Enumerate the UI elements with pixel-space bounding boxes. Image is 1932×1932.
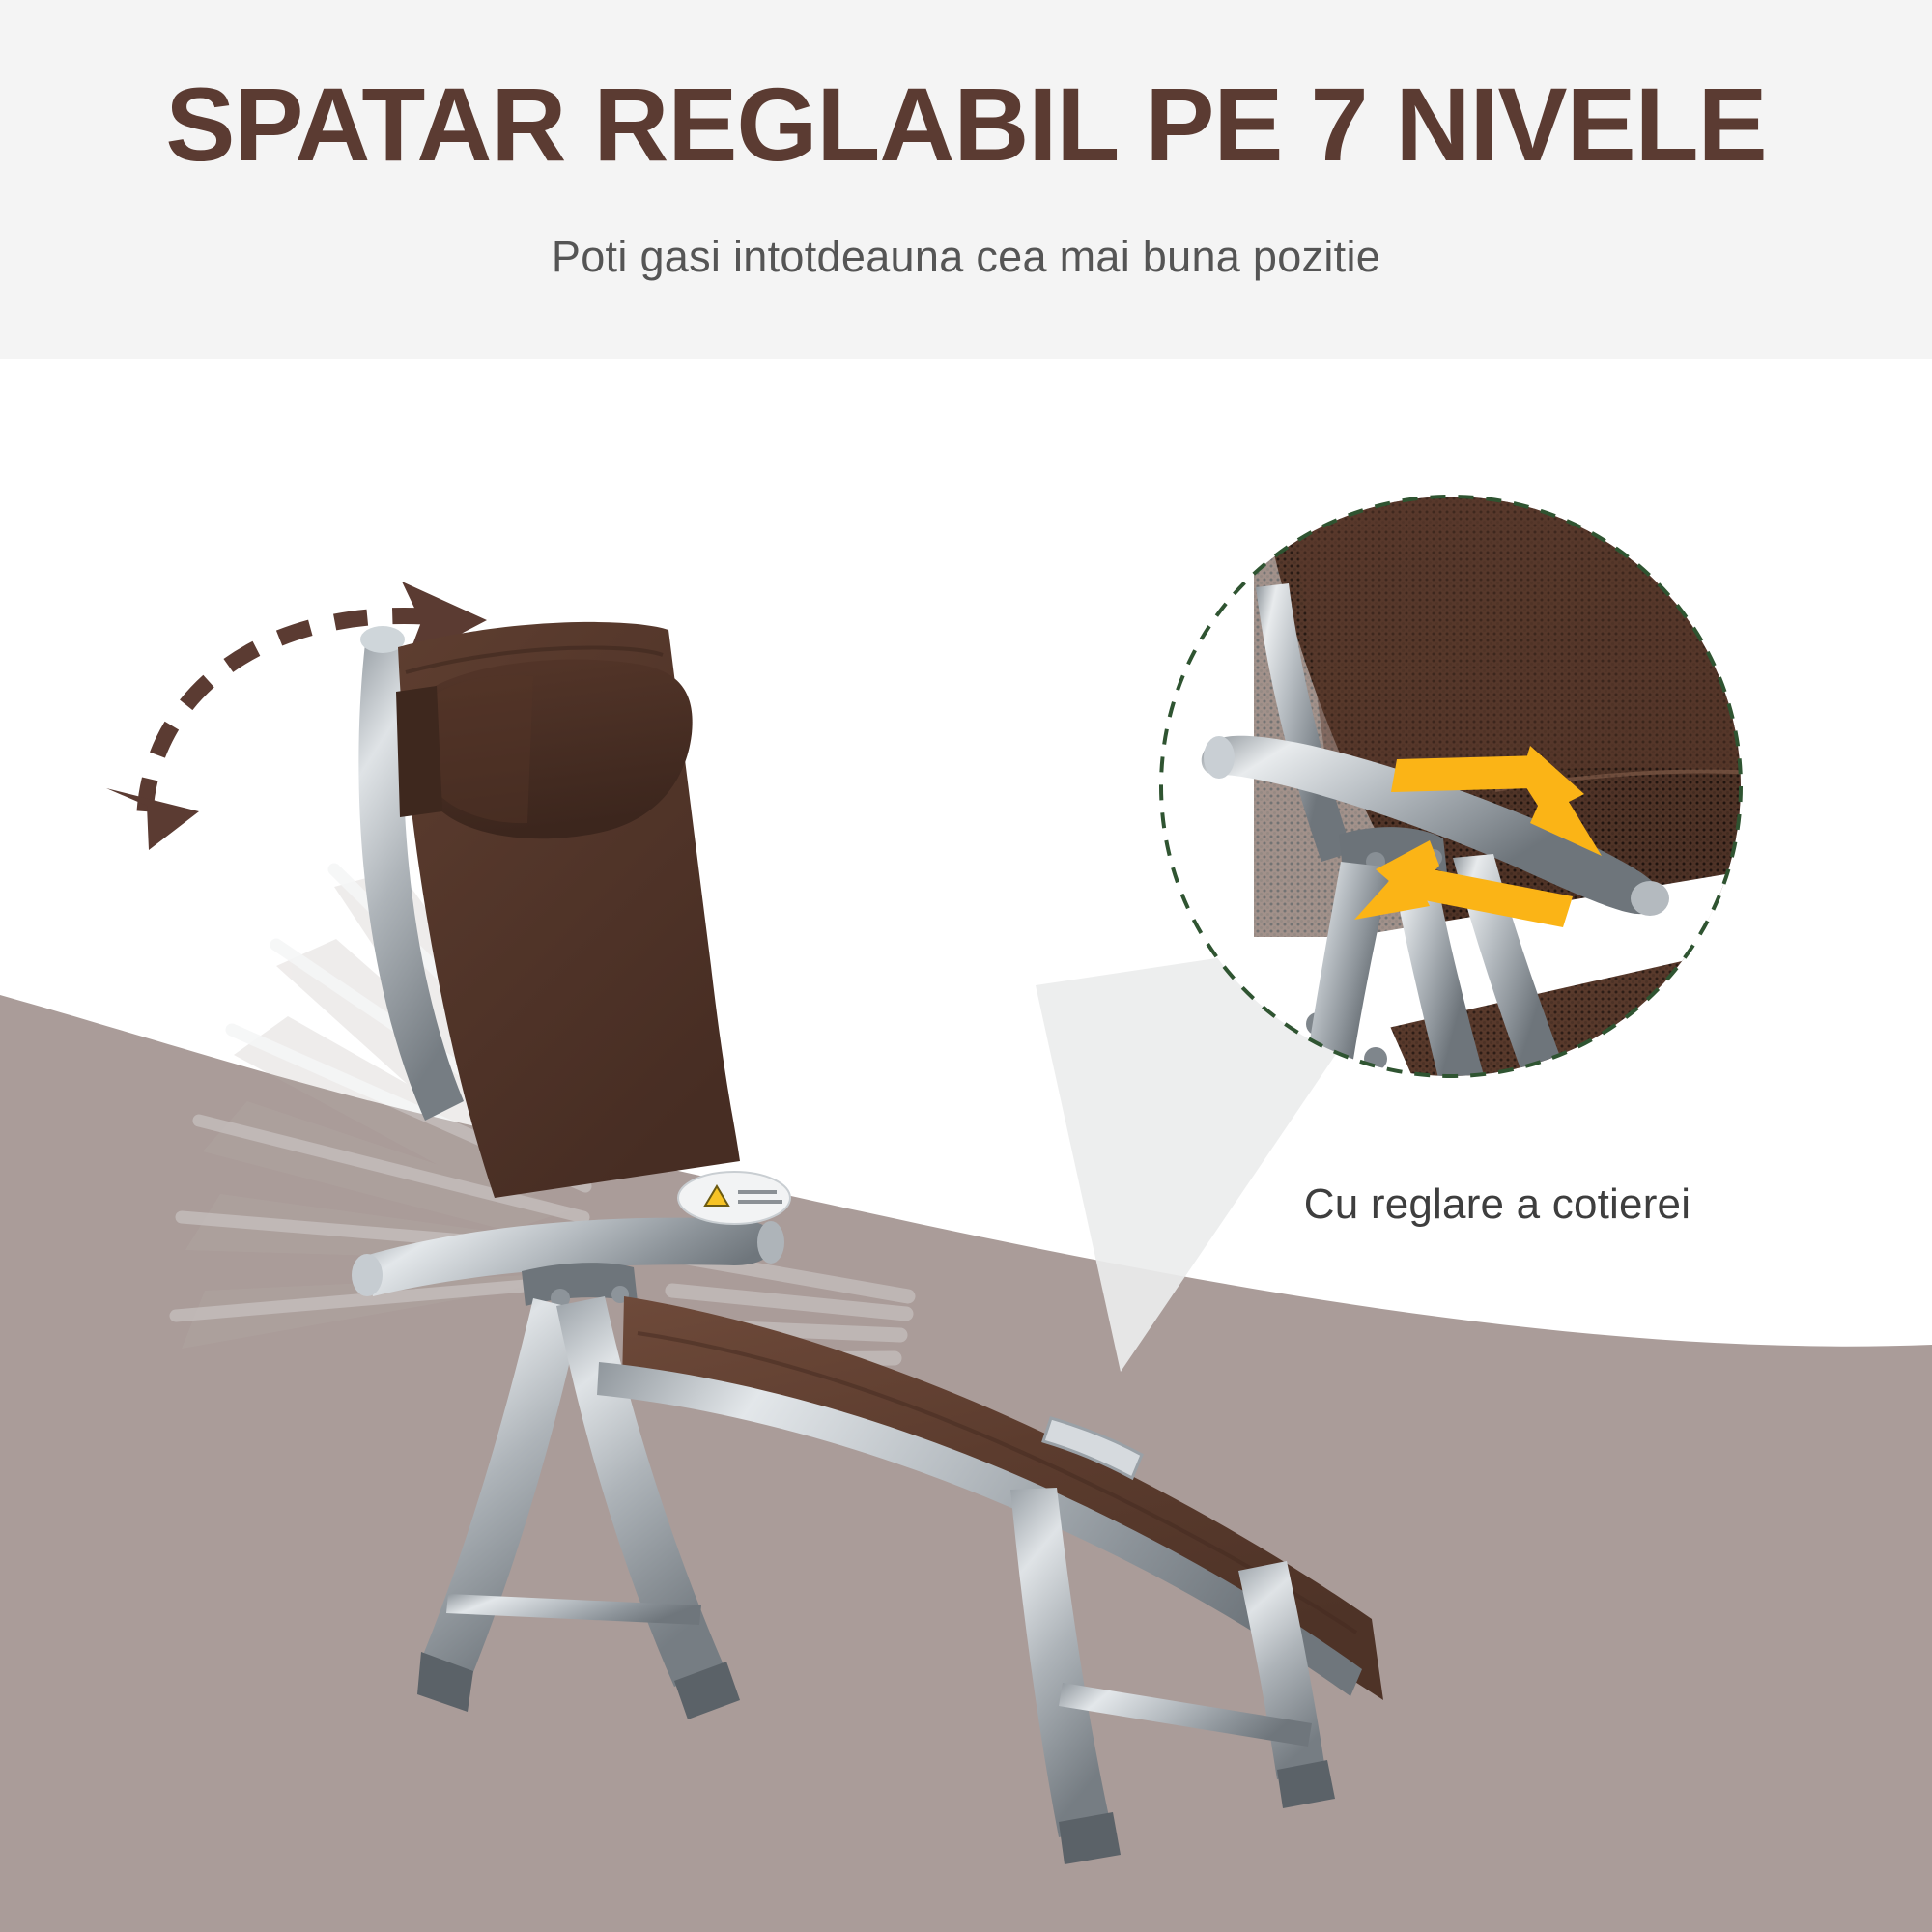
zoom-detail-circle [1148, 483, 1754, 1090]
page-subtitle: Poti gasi intotdeauna cea mai buna pozit… [0, 232, 1932, 282]
inset-caption: Cu reglare a cotierei [1188, 1180, 1806, 1229]
page-title: SPATAR REGLABIL PE 7 NIVELE [0, 70, 1932, 179]
warning-sticker [678, 1172, 790, 1224]
front-leg-left [417, 1298, 582, 1712]
product-feature-banner: SPATAR REGLABIL PE 7 NIVELE Poti gasi in… [0, 0, 1932, 1932]
